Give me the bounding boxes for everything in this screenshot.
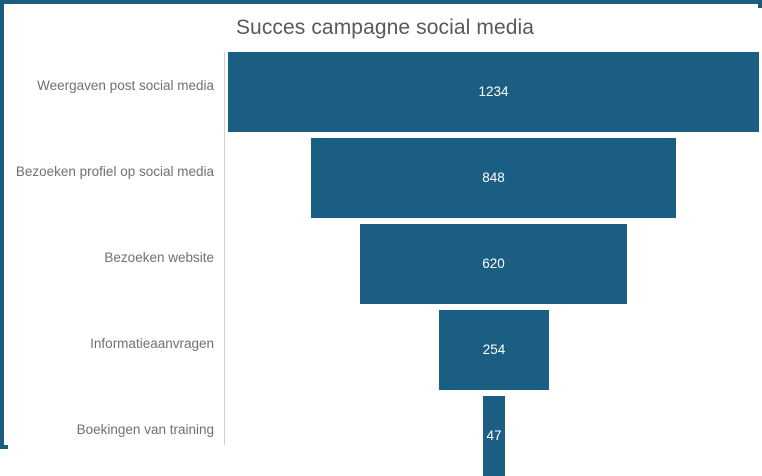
- funnel-band: Weergaven post social media 1234: [8, 46, 762, 132]
- funnel-band: Bezoeken profiel op social media 848: [8, 132, 762, 218]
- funnel-band: Bezoeken website 620: [8, 218, 762, 304]
- funnel-band: Boekingen van training 47: [8, 390, 762, 476]
- bar-value-label: 47: [483, 428, 505, 443]
- bar-value-label: 254: [439, 342, 549, 357]
- bar-value-label: 1234: [228, 84, 759, 99]
- funnel-plot-area: Weergaven post social media 1234 Bezoeke…: [8, 46, 762, 446]
- bar-value-label: 620: [360, 256, 627, 271]
- funnel-band: Informatieaanvragen 254: [8, 304, 762, 390]
- category-label: Informatieaanvragen: [8, 336, 214, 351]
- chart-title: Succes campagne social media: [8, 16, 762, 40]
- chart-frame: Succes campagne social media Weergaven p…: [0, 0, 762, 449]
- category-label: Bezoeken website: [8, 250, 214, 265]
- funnel-bar[interactable]: 848: [311, 138, 676, 218]
- category-label: Boekingen van training: [8, 422, 214, 437]
- funnel-bar[interactable]: 47: [483, 396, 505, 476]
- bar-value-label: 848: [311, 170, 676, 185]
- category-label: Bezoeken profiel op social media: [8, 164, 214, 179]
- chart-canvas: Succes campagne social media Weergaven p…: [8, 8, 762, 449]
- category-label: Weergaven post social media: [8, 78, 214, 93]
- funnel-bar[interactable]: 620: [360, 224, 627, 304]
- funnel-bar[interactable]: 254: [439, 310, 549, 390]
- funnel-bar[interactable]: 1234: [228, 52, 759, 132]
